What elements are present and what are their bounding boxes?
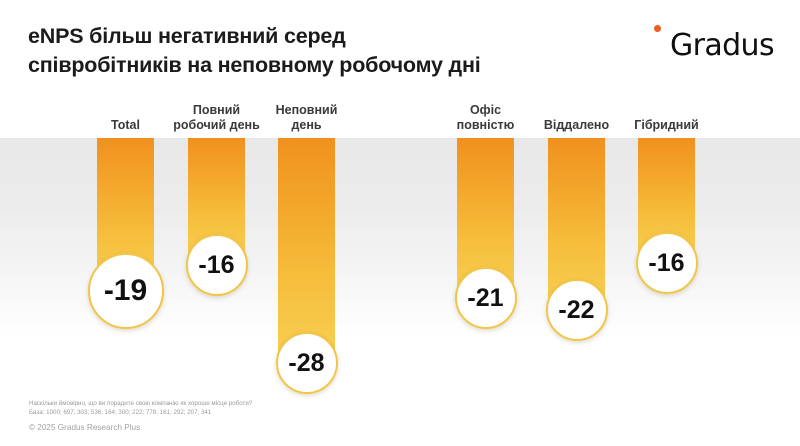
infographic-root: eNPS більш негативний серед співробітник… — [0, 0, 800, 446]
bar-value-bubble: -21 — [455, 267, 517, 329]
bar-category-label: Неповний день — [247, 103, 367, 138]
bar-value-bubble: -16 — [636, 232, 698, 294]
bar-category-label: Гібридний — [607, 118, 727, 138]
bar-value-bubble: -19 — [88, 253, 164, 329]
bar-value-bubble: -22 — [546, 279, 608, 341]
bar-value-bubble: -16 — [186, 234, 248, 296]
footnote-base: База: 1000; 697; 303; 536; 164; 300; 222… — [29, 408, 211, 417]
bar-value-bubble: -28 — [276, 332, 338, 394]
footnote-question: Наскільки ймовірно, що ви порадите свою … — [29, 399, 252, 408]
enps-bar-chart: Total-19Повний робочий день-16Неповний д… — [0, 0, 800, 446]
copyright-line: © 2025 Gradus Research Plus — [29, 423, 140, 432]
